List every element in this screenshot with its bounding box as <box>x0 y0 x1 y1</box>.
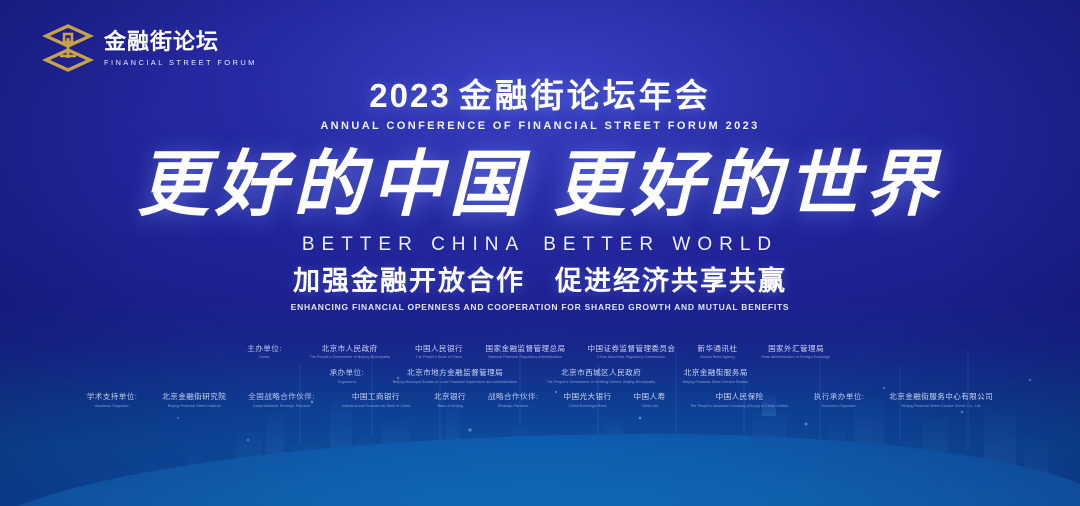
credit-name-cn: 北京金融街服务中心有限公司 <box>889 392 993 401</box>
credit-name-en: Xinhua News Agency <box>700 355 735 359</box>
slogan-en-part1: BETTER CHINA <box>302 234 525 255</box>
credit-organization: 国家外汇管理局State Administration of Foreign E… <box>748 344 843 360</box>
credit-name-en: Industrial and Commercial Bank of China <box>342 404 410 408</box>
credit-name-cn: 新华通讯社 <box>697 344 737 353</box>
credit-organization: 中国人民保险The People's Insurance Company (Gr… <box>676 392 802 408</box>
logo-name-en: FINANCIAL STREET FORUM <box>104 58 257 67</box>
credit-name-cn: 主办单位: <box>247 344 281 353</box>
conference-title-cn: 2023金融街论坛年会 <box>0 78 1080 114</box>
conference-banner: 金融街论坛 FINANCIAL STREET FORUM 2023金融街论坛年会… <box>0 0 1080 506</box>
credit-name-cn: 国家金融监督管理总局 <box>486 344 566 353</box>
credit-name-cn: 中国人民银行 <box>415 344 463 353</box>
credit-name-cn: 北京市人民政府 <box>322 344 378 353</box>
credit-name-en: State Administration of Foreign Exchange <box>762 355 831 359</box>
subtitle-en: ENHANCING FINANCIAL OPENNESS AND COOPERA… <box>0 302 1080 312</box>
credit-category-label: 学术支持单位:Academic Supporter: <box>76 392 151 408</box>
credit-name-cn: 全国战略合作伙伴: <box>248 392 314 401</box>
credit-category-label: 战略合作伙伴:Strategic Partners: <box>477 392 552 408</box>
credit-name-cn: 学术支持单位: <box>87 392 137 401</box>
credit-category-label: 全国战略合作伙伴:Comprehensive Strategic Partner… <box>237 392 328 408</box>
credit-name-cn: 北京市西城区人民政府 <box>561 368 641 377</box>
credit-name-cn: 中国光大银行 <box>564 392 612 401</box>
credit-organization: 北京市地方金融监督管理局Beijing Municipal Bureau of … <box>378 368 532 384</box>
credit-category-label: 主办单位:Hosts: <box>236 344 295 360</box>
credit-name-en: Beijing Financial Street Service Center … <box>901 404 981 408</box>
slogan-cn-part1: 更好的中国 <box>137 141 527 226</box>
credit-name-en: Academic Supporter: <box>95 404 130 408</box>
credit-name-cn: 北京银行 <box>434 392 466 401</box>
credit-name-cn: 战略合作伙伴: <box>488 392 538 401</box>
credit-name-en: The People's Government of Xicheng Distr… <box>547 380 656 384</box>
credit-name-cn: 中国人寿 <box>634 392 666 401</box>
credit-name-cn: 中国人民保险 <box>716 392 764 401</box>
credit-row: 承办单位:Organizers:北京市地方金融监督管理局Beijing Muni… <box>319 368 762 384</box>
subtitle-cn-part2: 促进经济共享共赢 <box>555 266 787 296</box>
slogan-cn: 更好的中国更好的世界 <box>0 146 1080 222</box>
credit-organization: 中国人民银行The People's Bank of China <box>403 344 474 360</box>
conference-year: 2023 <box>369 77 450 114</box>
financial-street-forum-monogram-icon <box>42 22 94 74</box>
credit-category-label: 承办单位:Organizers: <box>319 368 378 384</box>
credit-organization: 北京市人民政府The People's Government of Beijin… <box>296 344 404 360</box>
credit-name-en: Organizers: <box>337 380 356 384</box>
subtitle-cn-part1: 加强金融开放合作 <box>293 266 525 296</box>
credit-row: 主办单位:Hosts:北京市人民政府The People's Governmen… <box>236 344 843 360</box>
credit-organization: 北京金融街服务局Beijing Financial Street Service… <box>670 368 761 384</box>
credit-row: 学术支持单位:Academic Supporter:北京金融街研究院Beijin… <box>76 392 1004 408</box>
credit-name-cn: 北京金融街服务局 <box>684 368 748 377</box>
credit-organization: 新华通讯社Xinhua News Agency <box>686 344 748 360</box>
credit-organization: 中国人寿China Life <box>623 392 677 408</box>
credit-name-en: The People's Bank of China <box>416 355 462 359</box>
credit-name-en: National Financial Regulatory Administra… <box>489 355 563 359</box>
credit-name-en: China Everbright Bank <box>569 404 606 408</box>
credit-name-en: China Securities Regulatory Commission <box>598 355 666 359</box>
credit-name-en: The People's Insurance Company (Group) o… <box>691 404 789 408</box>
conference-title-cn-text: 金融街论坛年会 <box>459 77 711 114</box>
subtitle-block: 加强金融开放合作促进经济共享共赢 ENHANCING FINANCIAL OPE… <box>0 266 1080 312</box>
credit-organization: 北京金融街服务中心有限公司Beijing Financial Street Se… <box>878 392 1004 408</box>
credit-name-en: Strategic Partners: <box>498 404 529 408</box>
slogan-en: BETTER CHINABETTER WORLD <box>0 234 1080 256</box>
credit-organization: 中国光大银行China Everbright Bank <box>553 392 623 408</box>
forum-logo[interactable]: 金融街论坛 FINANCIAL STREET FORUM <box>42 22 257 74</box>
credit-name-cn: 北京金融街研究院 <box>162 392 226 401</box>
credit-organization: 北京市西城区人民政府The People's Government of Xic… <box>532 368 670 384</box>
credit-name-en: Beijing Financial Street Institute <box>168 404 221 408</box>
credit-name-en: Hosts: <box>259 355 270 359</box>
credit-name-cn: 北京市地方金融监督管理局 <box>407 368 503 377</box>
conference-title-en: ANNUAL CONFERENCE OF FINANCIAL STREET FO… <box>0 120 1080 132</box>
credit-name-en: China Life <box>641 404 658 408</box>
subtitle-cn: 加强金融开放合作促进经济共享共赢 <box>0 266 1080 297</box>
conference-title-block: 2023金融街论坛年会 ANNUAL CONFERENCE OF FINANCI… <box>0 78 1080 132</box>
credit-organization: 中国证券监督管理委员会China Securities Regulatory C… <box>576 344 686 360</box>
slogan-en-part2: BETTER WORLD <box>543 234 778 255</box>
logo-name-cn: 金融街论坛 <box>104 29 257 54</box>
credit-name-en: Executive Organizer: <box>822 404 857 408</box>
credit-name-cn: 中国证券监督管理委员会 <box>587 344 675 353</box>
credit-organization: 中国工商银行Industrial and Commercial Bank of … <box>329 392 423 408</box>
slogan-block: 更好的中国更好的世界 BETTER CHINABETTER WORLD <box>0 146 1080 256</box>
credit-name-cn: 中国工商银行 <box>352 392 400 401</box>
credit-name-en: Beijing Municipal Bureau of Local Financ… <box>393 380 517 384</box>
slogan-cn-part2: 更好的世界 <box>553 141 943 226</box>
credit-name-en: Beijing Financial Street Service Bureau <box>683 380 748 384</box>
credit-name-en: Bank of Beijing <box>438 404 463 408</box>
credits-block: 主办单位:Hosts:北京市人民政府The People's Governmen… <box>0 344 1080 408</box>
credit-name-cn: 承办单位: <box>330 368 364 377</box>
credit-organization: 国家金融监督管理总局National Financial Regulatory … <box>475 344 577 360</box>
credit-category-label: 执行承办单位:Executive Organizer: <box>803 392 878 408</box>
credit-name-en: Comprehensive Strategic Partners: <box>252 404 310 408</box>
credit-organization: 北京银行Bank of Beijing <box>423 392 477 408</box>
credit-name-cn: 国家外汇管理局 <box>768 344 824 353</box>
credit-name-en: The People's Government of Beijing Munic… <box>309 355 390 359</box>
credit-organization: 北京金融街研究院Beijing Financial Street Institu… <box>151 392 237 408</box>
credit-name-cn: 执行承办单位: <box>814 392 864 401</box>
